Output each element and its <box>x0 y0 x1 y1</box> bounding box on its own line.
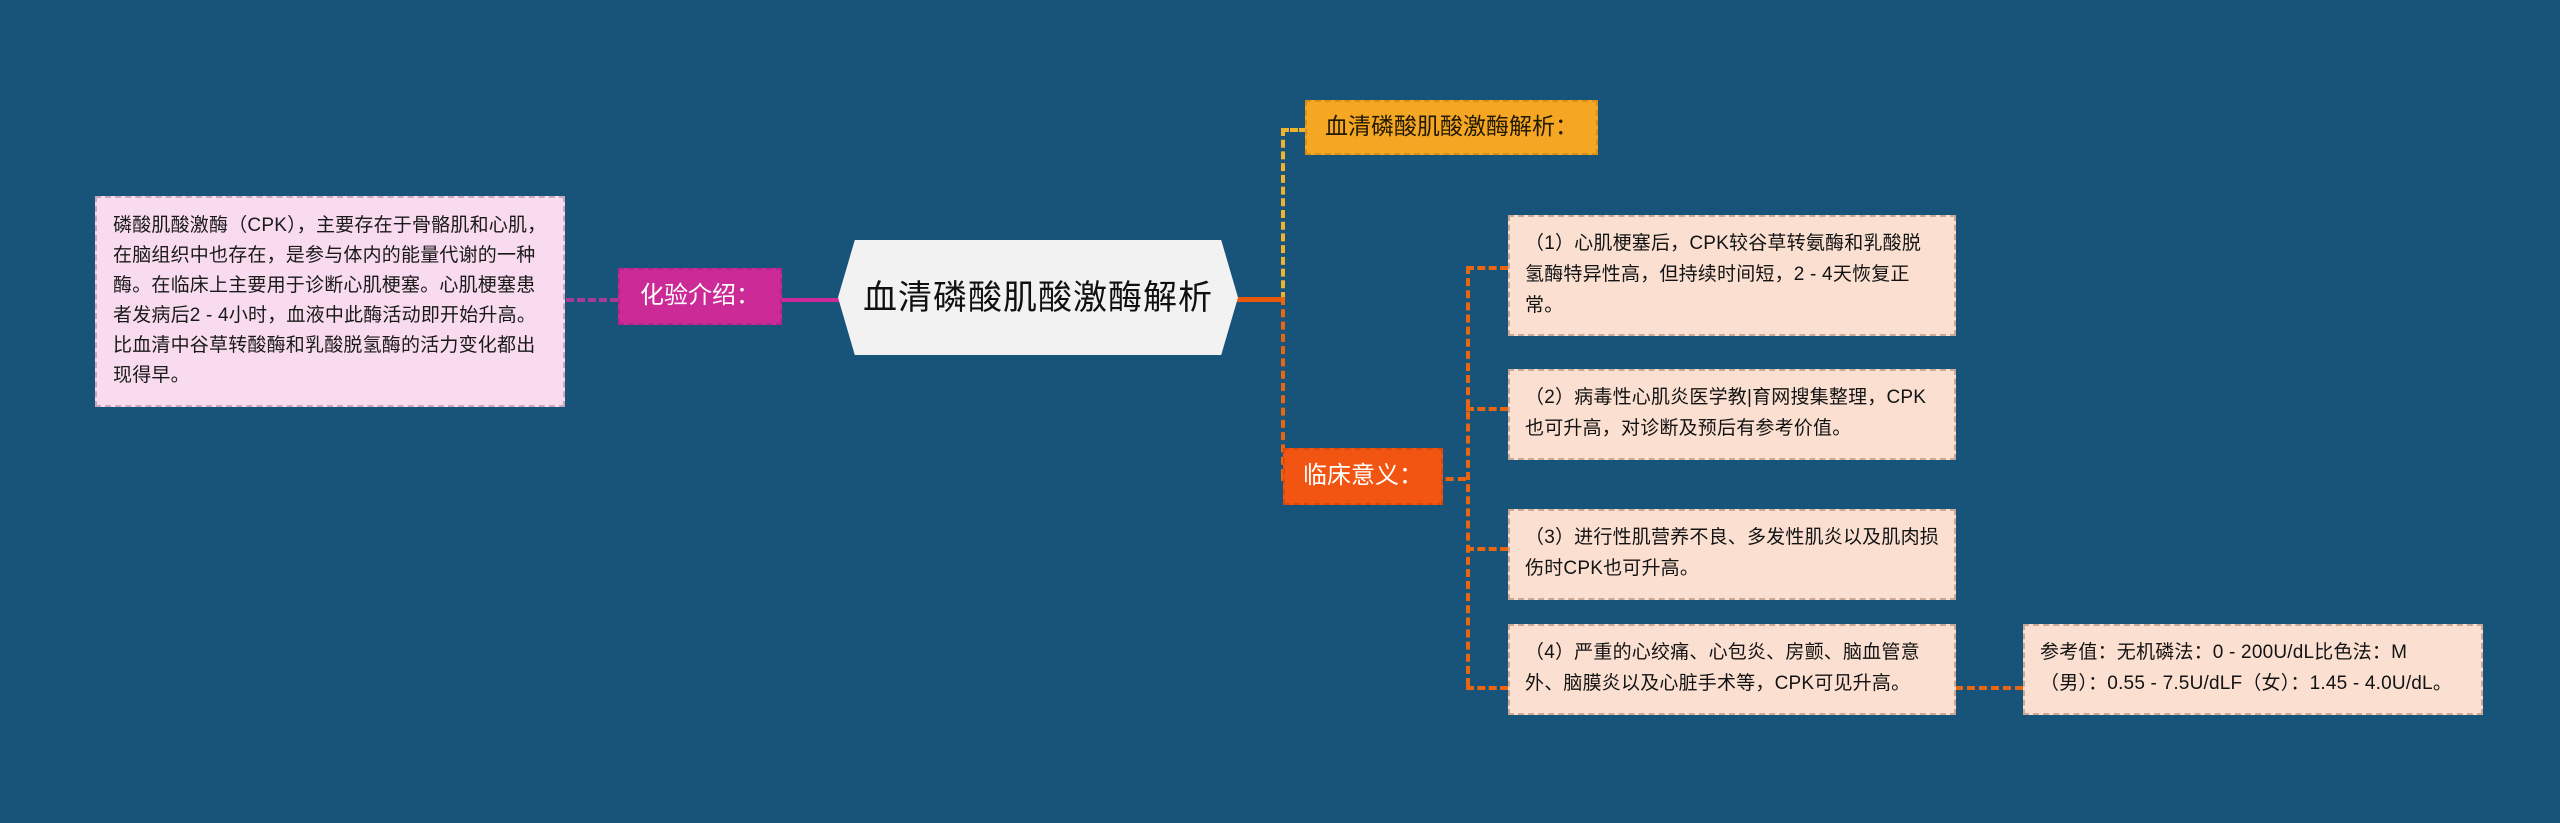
center-node[interactable]: 血清磷酸肌酸激酶解析 <box>838 240 1238 355</box>
mindmap-canvas: 磷酸肌酸激酶（CPK），主要存在于骨骼肌和心肌，在脑组织中也存在，是参与体内的能… <box>0 0 2560 823</box>
clinical-item-box-4[interactable]: （4）严重的心绞痛、心包炎、房颤、脑血管意外、脑膜炎以及心脏手术等，CPK可见升… <box>1508 624 1956 715</box>
connector-reference <box>1955 686 2023 690</box>
connector-intro-detail <box>566 298 618 302</box>
branch-label-intro[interactable]: 化验介绍： <box>618 268 782 325</box>
connector-spine-up <box>1281 128 1285 300</box>
branch-label-clinical-text: 临床意义： <box>1303 462 1423 489</box>
connector-center-stub <box>1236 297 1282 302</box>
clinical-item-text-4: （4）严重的心绞痛、心包炎、房颤、脑血管意外、脑膜炎以及心脏手术等，CPK可见升… <box>1525 642 1920 694</box>
clinical-item-text-1: （1）心肌梗塞后，CPK较谷草转氨酶和乳酸脱氢酶特异性高，但持续时间短，2 - … <box>1525 233 1921 316</box>
clinical-item-box-1[interactable]: （1）心肌梗塞后，CPK较谷草转氨酶和乳酸脱氢酶特异性高，但持续时间短，2 - … <box>1508 215 1956 336</box>
clinical-item-box-3[interactable]: （3）进行性肌营养不良、多发性肌炎以及肌肉损伤时CPK也可升高。 <box>1508 509 1956 600</box>
branch-label-analysis-text: 血清磷酸肌酸激酶解析： <box>1325 113 1578 139</box>
reference-values-box[interactable]: 参考值：无机磷法：0 - 200U/dL比色法：M（男）：0.55 - 7.5U… <box>2023 624 2483 715</box>
branch-label-analysis[interactable]: 血清磷酸肌酸激酶解析： <box>1305 100 1598 155</box>
connector-item-2 <box>1466 407 1508 411</box>
reference-values-text: 参考值：无机磷法：0 - 200U/dL比色法：M（男）：0.55 - 7.5U… <box>2040 642 2452 694</box>
branch-label-clinical[interactable]: 临床意义： <box>1283 448 1443 505</box>
connector-item-4 <box>1466 686 1508 690</box>
intro-detail-text: 磷酸肌酸激酶（CPK），主要存在于骨骼肌和心肌，在脑组织中也存在，是参与体内的能… <box>113 215 546 386</box>
connector-analysis-label <box>1281 128 1307 132</box>
clinical-item-box-2[interactable]: （2）病毒性心肌炎医学教|育网搜集整理，CPK也可升高，对诊断及预后有参考价值。 <box>1508 369 1956 460</box>
intro-detail-box[interactable]: 磷酸肌酸激酶（CPK），主要存在于骨骼肌和心肌，在脑组织中也存在，是参与体内的能… <box>95 196 565 407</box>
connector-item-3 <box>1466 547 1508 551</box>
clinical-item-text-2: （2）病毒性心肌炎医学教|育网搜集整理，CPK也可升高，对诊断及预后有参考价值。 <box>1525 387 1926 439</box>
connector-items-spine <box>1466 266 1470 686</box>
center-node-text: 血清磷酸肌酸激酶解析 <box>863 281 1213 315</box>
connector-intro-center <box>782 298 844 302</box>
connector-item-1 <box>1466 266 1508 270</box>
branch-label-intro-text: 化验介绍： <box>640 282 760 309</box>
clinical-item-text-3: （3）进行性肌营养不良、多发性肌炎以及肌肉损伤时CPK也可升高。 <box>1525 527 1939 579</box>
